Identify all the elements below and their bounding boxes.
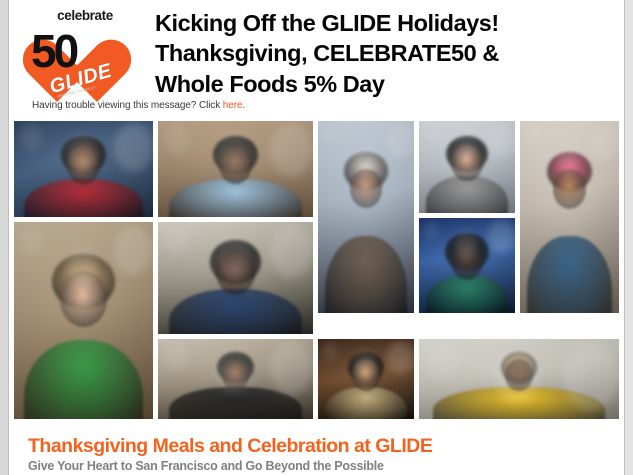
photo-two-women-hug-background-figure [270,341,313,395]
photo-smiling-girl-background-figure [20,123,42,151]
photo-man-flat-cap [318,121,414,313]
glide-celebrate50-logo: celebrate 50 GLIDE UNCONDITIONALLY [23,6,131,104]
view-in-browser-suffix: . [242,100,245,111]
photo-man-flat-cap-background-figure [387,125,414,159]
photo-two-men-praying-background-figure [164,224,189,255]
article-title: Thanksgiving Meals and Celebration at GL… [28,435,432,458]
photo-smiling-girl-background-figure [114,123,153,172]
logo-celebrate-text: celebrate [39,8,131,23]
photo-man-cheering-background-figure [354,350,375,376]
page-title: Kicking Off the GLIDE Holidays! Thanksgi… [155,8,623,99]
photo-collage [9,117,624,423]
view-in-browser-link[interactable]: here [223,100,243,111]
window-right-rail [625,0,633,475]
view-in-browser-notice: Having trouble viewing this message? Cli… [32,100,245,111]
photo-couple-tray-background-figure [423,123,438,142]
photo-woman-pink-beanie-background-figure [591,125,619,160]
photo-hands-raised-background-figure [455,231,476,257]
photo-man-woman-table [158,121,313,217]
photo-couple-tray-background-figure [455,134,476,160]
photo-boy-boxes-background-figure [20,226,42,254]
logo-fifty-text: 50 [31,28,76,74]
photo-couple-tray [419,121,515,213]
photo-man-woman-table-background-figure [270,123,313,177]
article-subtitle: Give Your Heart to San Francisco and Go … [28,459,384,473]
photo-three-people-love [419,339,619,419]
photo-two-women-hug-background-figure [164,341,189,372]
photo-smiling-girl-background-figure [67,134,98,172]
photo-two-women-hug [158,339,313,419]
email-newsletter-page: celebrate 50 GLIDE UNCONDITIONALLY Kicki… [0,0,633,475]
headline-line-2: Thanksgiving, CELEBRATE50 & [155,38,623,68]
photo-woman-pink-beanie-subject-face [553,169,587,209]
photo-couple-tray-background-figure [488,123,515,157]
photo-boy-boxes [14,222,153,419]
photo-two-men-praying-background-figure [270,224,313,278]
photo-hands-raised [419,218,515,313]
photo-man-woman-table-background-figure [217,134,251,177]
photo-man-cheering-background-figure [322,341,337,360]
photo-woman-pink-beanie-background-figure [524,125,540,145]
email-header: celebrate 50 GLIDE UNCONDITIONALLY Kicki… [9,0,624,117]
photo-boy-boxes-background-figure [67,250,98,288]
photo-man-flat-cap-background-figure [322,125,337,144]
photo-two-men-praying-background-figure [217,238,251,281]
photo-man-cheering-background-figure [387,341,414,375]
article-intro: Thanksgiving Meals and Celebration at GL… [9,423,624,475]
content-right-border [624,0,625,475]
photo-smiling-girl [14,121,153,217]
photo-boy-boxes-background-figure [114,226,153,275]
photo-man-cheering [318,339,414,419]
headline-line-1: Kicking Off the GLIDE Holidays! [155,8,623,38]
photo-woman-pink-beanie [520,121,619,313]
headline-line-3: Whole Foods 5% Day [155,69,623,99]
photo-man-woman-table-background-figure [164,123,189,154]
photo-man-flat-cap-subject-face [350,169,383,208]
photo-three-people-love-background-figure [563,341,619,411]
photo-man-flat-cap-background-figure [354,148,375,174]
photo-three-people-love-background-figure [427,341,459,381]
window-left-rail [0,0,8,475]
photo-two-women-hug-background-figure [217,350,251,393]
photo-two-men-praying [158,222,313,334]
view-in-browser-prefix: Having trouble viewing this message? Cli… [32,100,223,111]
photo-three-people-love-background-figure [495,350,539,405]
